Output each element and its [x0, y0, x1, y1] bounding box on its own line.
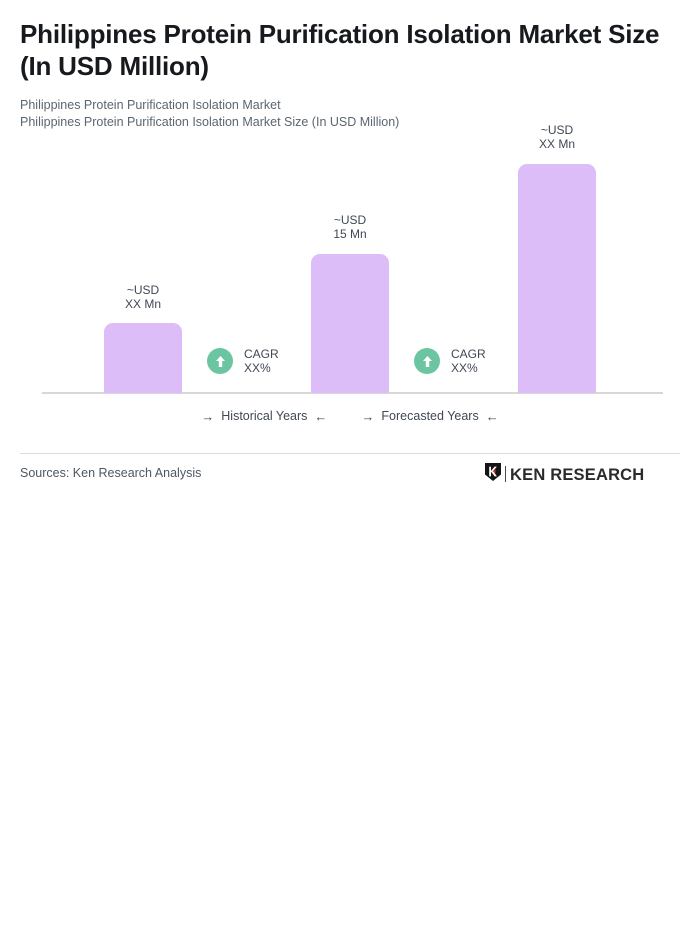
arrow-right-icon: → [201, 410, 214, 423]
sources-text: Sources: Ken Research Analysis [20, 466, 201, 480]
legend-item-forecasted-years: → Forecasted Years ← [361, 409, 498, 423]
ken-research-logo: KEN RESEARCH [484, 463, 644, 485]
period-legend: → Historical Years ← → Forecasted Years … [0, 409, 700, 423]
bar-base[interactable] [311, 254, 389, 393]
cagr-badge-icon-2 [414, 348, 440, 374]
bar-historical[interactable] [104, 323, 182, 393]
bar-value-label-base: ~USD 15 Mn [311, 213, 389, 241]
bar-value-label-forecast: ~USD XX Mn [518, 123, 596, 151]
cagr-badge-icon-1 [207, 348, 233, 374]
page-title: Philippines Protein Purification Isolati… [20, 18, 680, 82]
logo-divider [505, 466, 506, 482]
chart-card: Philippines Protein Purification Isolati… [0, 0, 700, 520]
subtitle-line-1: Philippines Protein Purification Isolati… [20, 97, 660, 114]
legend-label-forecasted-years: Forecasted Years [381, 409, 478, 423]
ken-research-wordmark: KEN RESEARCH [510, 467, 644, 484]
arrow-right-icon: → [361, 410, 374, 423]
bar-forecast[interactable] [518, 164, 596, 393]
arrow-left-icon: ← [486, 410, 499, 423]
footer-divider [20, 453, 680, 454]
bar-value-label-historical: ~USD XX Mn [104, 283, 182, 311]
arrow-left-icon: ← [314, 410, 327, 423]
legend-label-historical-years: Historical Years [221, 409, 307, 423]
ken-research-shield-icon [484, 462, 502, 487]
bar-chart-plot-area: ~USD XX Mn CAGR XX% ~USD 15 Mn CAGR XX% [0, 120, 700, 395]
legend-item-historical-years: → Historical Years ← [201, 409, 327, 423]
cagr-label-1: CAGR XX% [244, 347, 279, 375]
cagr-label-2: CAGR XX% [451, 347, 486, 375]
cagr-annotation-1: CAGR XX% [207, 347, 279, 375]
cagr-annotation-2: CAGR XX% [414, 347, 486, 375]
